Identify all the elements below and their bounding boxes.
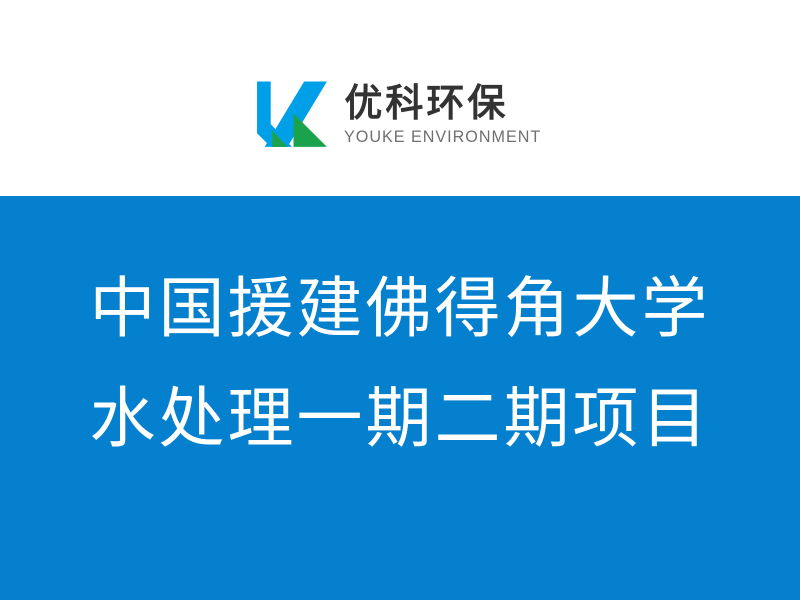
project-title-line-2: 水处理一期二期项目 [0,364,800,474]
logo-inner-row: 优科环保 YOUKE ENVIRONMENT [254,77,545,153]
youke-k-logo-mark-icon [254,77,330,153]
brand-name-chinese: 优科环保 [344,84,545,124]
company-logo-lockup: 优科环保 YOUKE ENVIRONMENT [0,0,800,196]
project-title-line-1: 中国援建佛得角大学 [0,254,800,364]
presentation-slide: 优科环保 YOUKE ENVIRONMENT 中国援建佛得角大学 水处理一期二期… [0,0,800,600]
slide-header: 优科环保 YOUKE ENVIRONMENT [0,0,800,196]
project-title-block: 中国援建佛得角大学 水处理一期二期项目 [0,254,800,474]
logo-wordmark: 优科环保 YOUKE ENVIRONMENT [344,84,545,146]
title-banner: 中国援建佛得角大学 水处理一期二期项目 [0,196,800,600]
brand-name-english: YOUKE ENVIRONMENT [344,128,541,146]
